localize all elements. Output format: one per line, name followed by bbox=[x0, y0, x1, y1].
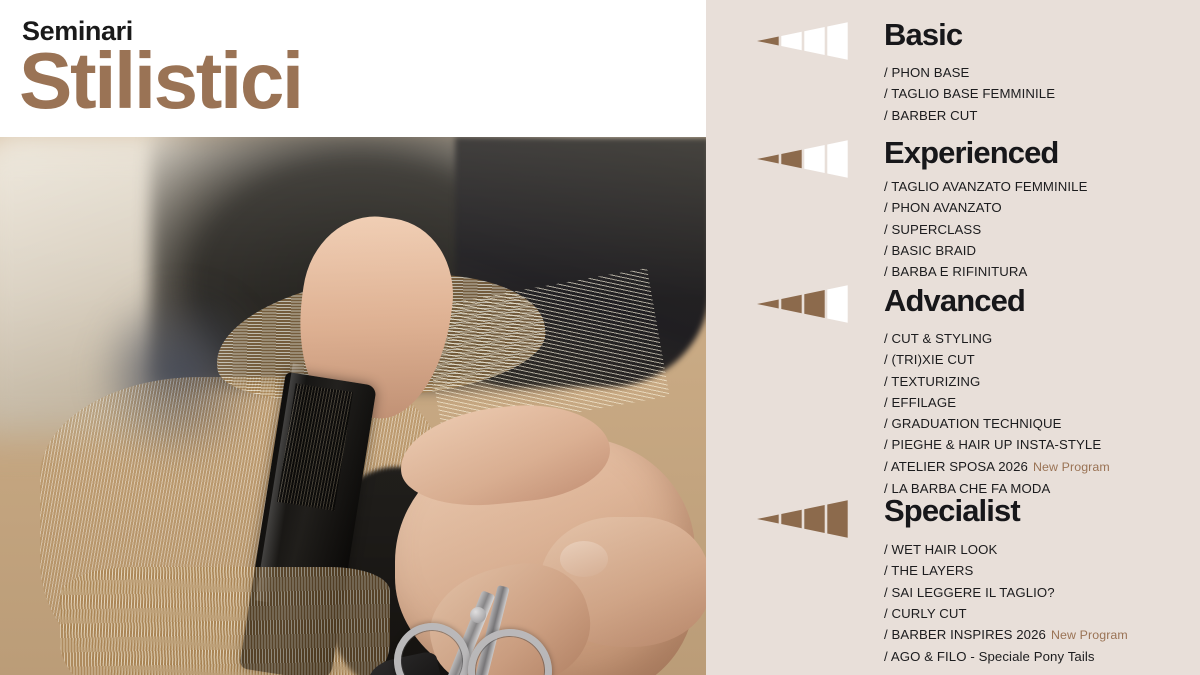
course-bullet-slash: / bbox=[884, 459, 891, 474]
new-program-badge: New Program bbox=[1051, 628, 1128, 642]
course-list-advanced: / CUT & STYLING/ (TRI)XIE CUT/ TEXTURIZI… bbox=[884, 328, 1110, 499]
course-list-basic: / PHON BASE/ TAGLIO BASE FEMMINILE/ BARB… bbox=[884, 62, 1055, 126]
indicator-segment-2 bbox=[781, 150, 801, 168]
course-item[interactable]: / ATELIER SPOSA 2026New Program bbox=[884, 456, 1110, 478]
course-bullet-slash: / bbox=[884, 331, 892, 346]
indicator-segment-1 bbox=[757, 37, 779, 46]
course-name: PHON AVANZATO bbox=[892, 200, 1002, 215]
salon-photo bbox=[0, 137, 706, 675]
indicator-segment-4 bbox=[827, 500, 847, 537]
course-bullet-slash: / bbox=[884, 585, 892, 600]
course-name: EFFILAGE bbox=[892, 395, 957, 410]
indicator-segment-1 bbox=[757, 515, 779, 524]
indicator-segment-3 bbox=[804, 505, 824, 533]
course-name: TAGLIO AVANZATO FEMMINILE bbox=[891, 179, 1087, 194]
course-item[interactable]: / CURLY CUT bbox=[884, 603, 1128, 624]
course-name: BARBA E RIFINITURA bbox=[892, 264, 1028, 279]
course-bullet-slash: / bbox=[884, 395, 892, 410]
indicator-segment-3 bbox=[804, 145, 824, 173]
course-item[interactable]: / AGO & FILO - Speciale Pony Tails bbox=[884, 646, 1128, 667]
course-item[interactable]: / BARBER INSPIRES 2026New Program bbox=[884, 624, 1128, 646]
course-item[interactable]: / THE LAYERS bbox=[884, 560, 1128, 581]
course-bullet-slash: / bbox=[884, 65, 892, 80]
level-indicator-specialist bbox=[757, 500, 849, 540]
indicator-segment-3 bbox=[804, 27, 824, 55]
indicator-segment-2 bbox=[781, 32, 801, 50]
course-bullet-slash: / bbox=[884, 108, 892, 123]
indicator-segment-2 bbox=[781, 295, 801, 313]
course-list-experienced: / TAGLIO AVANZATO FEMMINILE/ PHON AVANZA… bbox=[884, 176, 1087, 282]
course-name: BARBER CUT bbox=[892, 108, 978, 123]
course-bullet-slash: / bbox=[884, 606, 892, 621]
course-name: SUPERCLASS bbox=[892, 222, 982, 237]
course-name: BASIC BRAID bbox=[892, 243, 977, 258]
course-item[interactable]: / BARBA E RIFINITURA bbox=[884, 261, 1087, 282]
level-title-advanced: Advanced bbox=[884, 284, 1025, 318]
course-name: TEXTURIZING bbox=[891, 374, 980, 389]
page-title: Stilistici bbox=[19, 38, 302, 124]
course-name: AGO & FILO - Speciale Pony Tails bbox=[891, 649, 1095, 664]
course-item[interactable]: / SAI LEGGERE IL TAGLIO? bbox=[884, 582, 1128, 603]
level-indicator-experienced bbox=[757, 140, 849, 180]
indicator-segment-4 bbox=[827, 22, 847, 59]
course-item[interactable]: / SUPERCLASS bbox=[884, 219, 1087, 240]
left-column: Seminari Stilistici bbox=[0, 0, 706, 675]
course-bullet-slash: / bbox=[884, 627, 892, 642]
course-bullet-slash: / bbox=[884, 264, 892, 279]
course-item[interactable]: / PHON BASE bbox=[884, 62, 1055, 83]
course-item[interactable]: / WET HAIR LOOK bbox=[884, 539, 1128, 560]
course-item[interactable]: / BASIC BRAID bbox=[884, 240, 1087, 261]
indicator-segment-3 bbox=[804, 290, 824, 318]
course-list-specialist: / WET HAIR LOOK/ THE LAYERS/ SAI LEGGERE… bbox=[884, 539, 1128, 668]
title-panel: Seminari Stilistici bbox=[0, 0, 706, 137]
course-name: WET HAIR LOOK bbox=[892, 542, 998, 557]
course-item[interactable]: / TAGLIO BASE FEMMINILE bbox=[884, 83, 1055, 104]
level-title-specialist: Specialist bbox=[884, 494, 1020, 528]
course-bullet-slash: / bbox=[884, 437, 892, 452]
level-indicator-basic bbox=[757, 22, 849, 62]
course-item[interactable]: / PHON AVANZATO bbox=[884, 197, 1087, 218]
course-name: PHON BASE bbox=[892, 65, 970, 80]
course-item[interactable]: / PIEGHE & HAIR UP INSTA-STYLE bbox=[884, 434, 1110, 455]
course-bullet-slash: / bbox=[884, 352, 892, 367]
course-bullet-slash: / bbox=[884, 416, 892, 431]
levels-panel: Basic/ PHON BASE/ TAGLIO BASE FEMMINILE/… bbox=[706, 0, 1200, 675]
indicator-segment-1 bbox=[757, 155, 779, 164]
indicator-segment-2 bbox=[781, 510, 801, 528]
course-name: TAGLIO BASE FEMMINILE bbox=[891, 86, 1055, 101]
course-bullet-slash: / bbox=[884, 243, 892, 258]
course-bullet-slash: / bbox=[884, 542, 892, 557]
course-name: THE LAYERS bbox=[891, 563, 973, 578]
course-bullet-slash: / bbox=[884, 222, 892, 237]
level-indicator-advanced bbox=[757, 285, 849, 325]
course-name: SAI LEGGERE IL TAGLIO? bbox=[892, 585, 1055, 600]
level-title-basic: Basic bbox=[884, 18, 962, 52]
course-item[interactable]: / BARBER CUT bbox=[884, 105, 1055, 126]
course-item[interactable]: / EFFILAGE bbox=[884, 392, 1110, 413]
course-item[interactable]: / TEXTURIZING bbox=[884, 371, 1110, 392]
level-title-experienced: Experienced bbox=[884, 136, 1058, 170]
course-name: CUT & STYLING bbox=[892, 331, 993, 346]
course-item[interactable]: / TAGLIO AVANZATO FEMMINILE bbox=[884, 176, 1087, 197]
new-program-badge: New Program bbox=[1033, 460, 1110, 474]
slide-canvas: Seminari Stilistici Basic/ PHON BASE/ TA… bbox=[0, 0, 1200, 675]
course-bullet-slash: / bbox=[884, 200, 892, 215]
indicator-segment-1 bbox=[757, 300, 779, 309]
course-bullet-slash: / bbox=[884, 649, 891, 664]
course-item[interactable]: / CUT & STYLING bbox=[884, 328, 1110, 349]
course-name: ATELIER SPOSA 2026 bbox=[891, 459, 1028, 474]
indicator-segment-4 bbox=[827, 140, 847, 177]
course-item[interactable]: / (TRI)XIE CUT bbox=[884, 349, 1110, 370]
photo-color-grade bbox=[0, 137, 706, 675]
course-name: (TRI)XIE CUT bbox=[892, 352, 975, 367]
course-name: BARBER INSPIRES 2026 bbox=[892, 627, 1046, 642]
course-name: PIEGHE & HAIR UP INSTA-STYLE bbox=[892, 437, 1102, 452]
indicator-segment-4 bbox=[827, 285, 847, 322]
course-name: GRADUATION TECHNIQUE bbox=[892, 416, 1062, 431]
course-item[interactable]: / GRADUATION TECHNIQUE bbox=[884, 413, 1110, 434]
course-name: CURLY CUT bbox=[892, 606, 967, 621]
